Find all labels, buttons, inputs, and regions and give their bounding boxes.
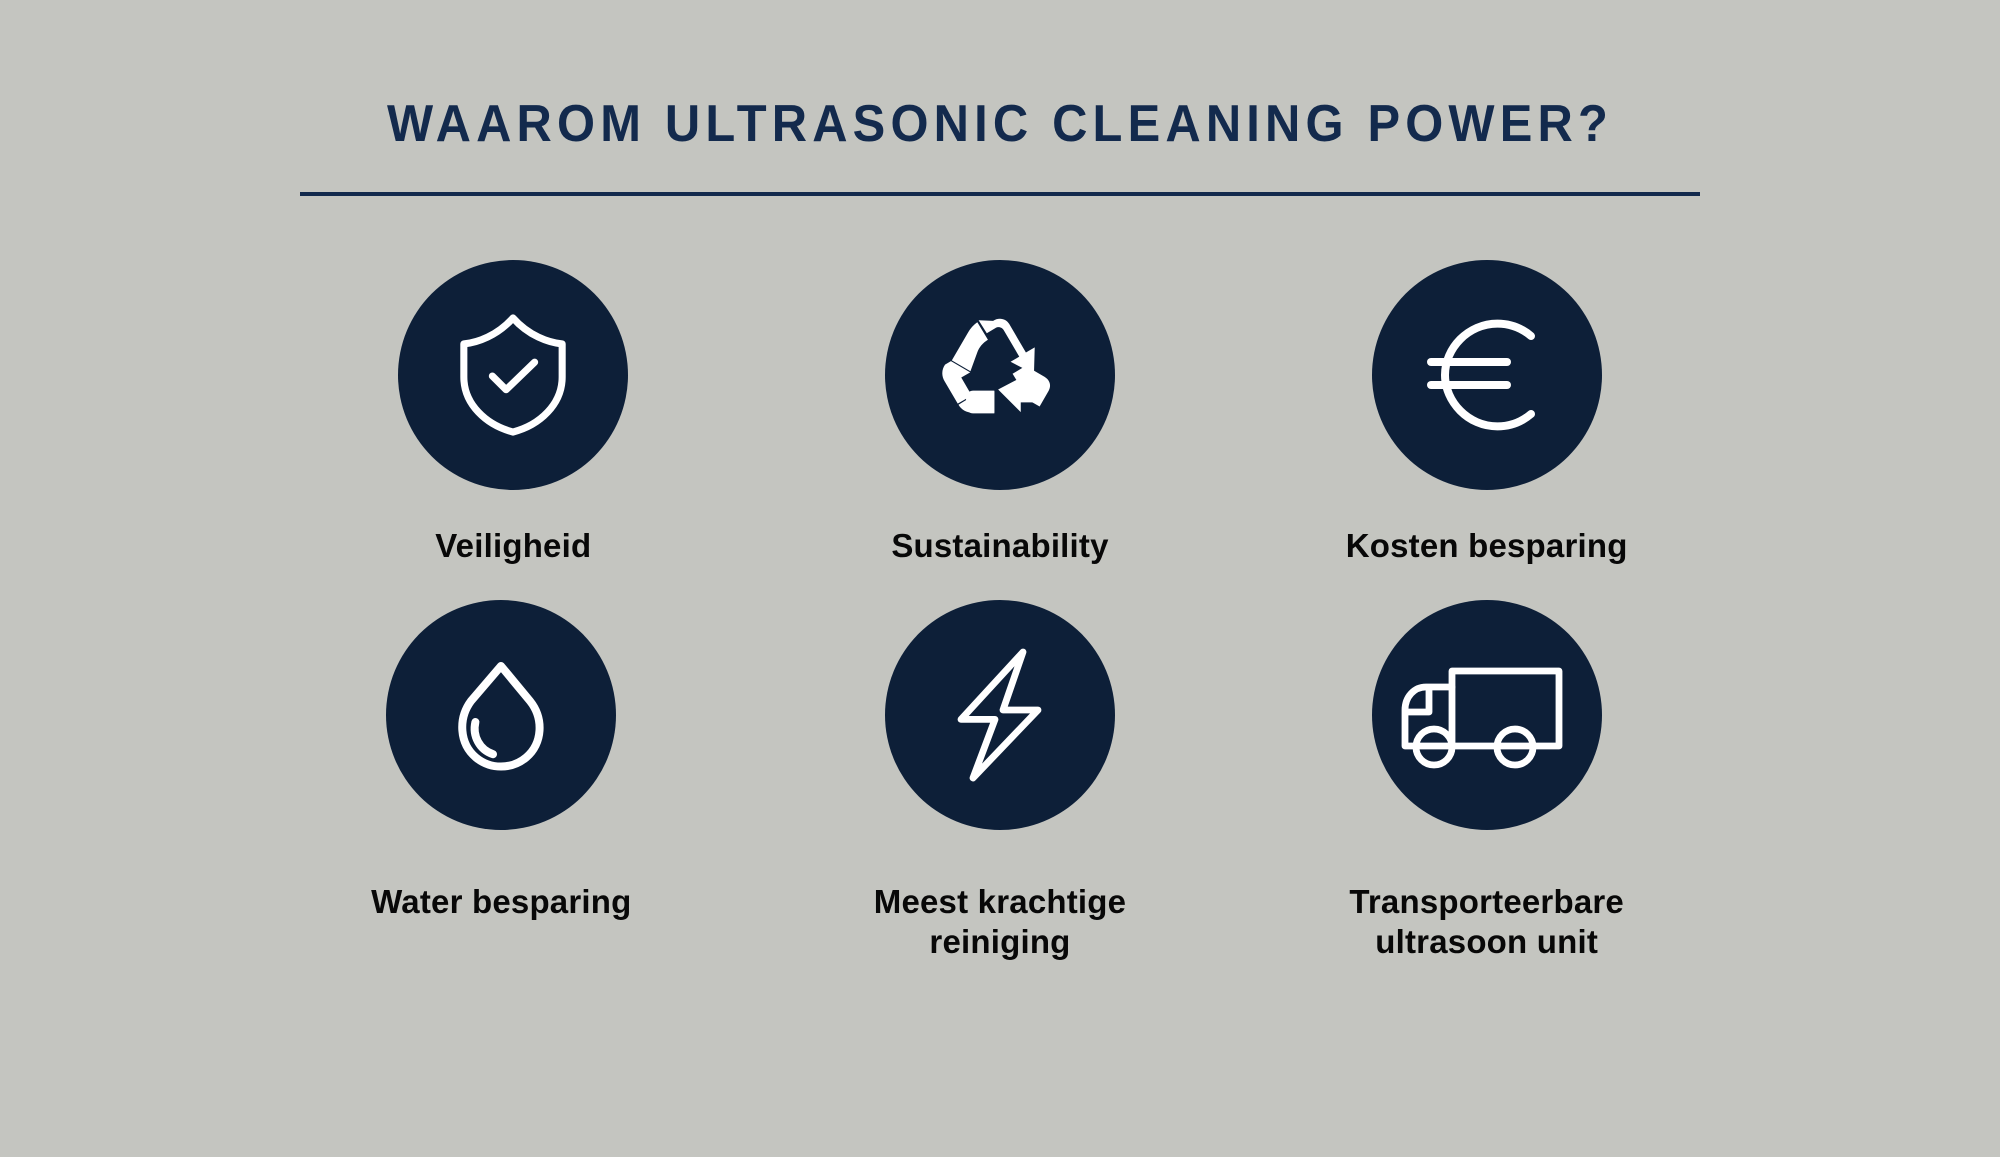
feature-item-meest-krachtige-reiniging[interactable]: Meest krachtige reiniging: [757, 600, 1244, 940]
feature-label: Meest krachtige reiniging: [874, 882, 1126, 963]
feature-item-kosten-besparing[interactable]: Kosten besparing: [1243, 260, 1730, 600]
feature-grid: Veiligheid: [270, 260, 1730, 940]
icon-badge: [885, 260, 1115, 490]
recycle-icon: [937, 314, 1063, 436]
feature-label: Sustainability: [891, 526, 1108, 566]
header: WAAROM ULTRASONIC CLEANING POWER?: [0, 0, 2000, 196]
euro-icon: [1421, 309, 1553, 441]
icon-badge: [398, 260, 628, 490]
feature-label: Transporteerbare ultrasoon unit: [1349, 882, 1624, 963]
delivery-truck-icon: [1401, 663, 1573, 767]
icon-badge: [1372, 600, 1602, 830]
water-drop-icon: [447, 655, 555, 775]
page-title: WAAROM ULTRASONIC CLEANING POWER?: [60, 96, 1940, 153]
feature-label: Water besparing: [371, 882, 631, 922]
feature-label: Kosten besparing: [1346, 526, 1628, 566]
title-divider: [300, 192, 1700, 196]
lightning-bolt-icon: [952, 645, 1048, 785]
feature-item-transporteerbare-ultrasoon-unit[interactable]: Transporteerbare ultrasoon unit: [1243, 600, 1730, 940]
shield-check-icon: [454, 312, 572, 438]
feature-item-sustainability[interactable]: Sustainability: [757, 260, 1244, 600]
feature-item-water-besparing[interactable]: Water besparing: [258, 600, 745, 940]
icon-badge: [885, 600, 1115, 830]
feature-item-veiligheid[interactable]: Veiligheid: [270, 260, 757, 600]
icon-badge: [1372, 260, 1602, 490]
feature-label: Veiligheid: [435, 526, 591, 566]
icon-badge: [386, 600, 616, 830]
